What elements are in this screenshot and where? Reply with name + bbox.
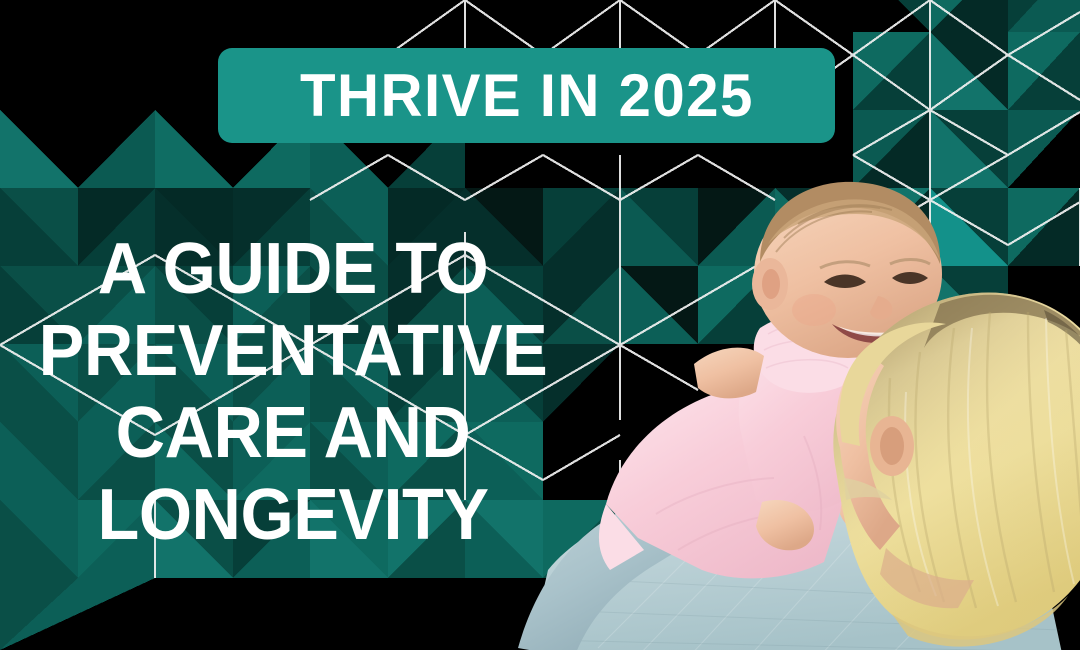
badge-label: THRIVE IN 2025 xyxy=(300,66,754,126)
headline-line-1: A GUIDE TO xyxy=(24,228,562,310)
poster-canvas: THRIVE IN 2025 A GUIDE TO PREVENTATIVE C… xyxy=(0,0,1080,650)
family-photo xyxy=(488,178,1080,650)
headline-line-2: PREVENTATIVE xyxy=(24,310,562,392)
thrive-badge: THRIVE IN 2025 xyxy=(218,48,835,143)
headline-block: A GUIDE TO PREVENTATIVE CARE AND LONGEVI… xyxy=(10,228,576,556)
headline-line-4: LONGEVITY xyxy=(24,474,562,556)
headline-line-3: CARE AND xyxy=(24,392,562,474)
